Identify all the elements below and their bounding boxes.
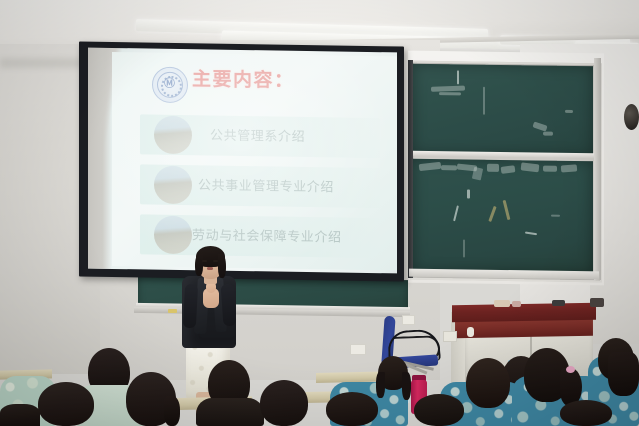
projector-glow [112, 48, 397, 273]
student-hair [402, 372, 411, 400]
podium-object [494, 300, 510, 307]
student-head [414, 394, 464, 426]
presenter-arm [183, 284, 198, 329]
student-hair [376, 372, 385, 398]
student-head [38, 382, 94, 426]
lecture-hall-photo: Ⓜ 主要内容： 公共管理系介绍 公共事业管理专业介绍 劳动与社会保障专业介绍 [0, 0, 639, 426]
student-ponytail [164, 396, 180, 426]
student-head [260, 380, 308, 426]
wall-socket [350, 344, 366, 355]
blackboard-edge-right [594, 58, 601, 280]
presenter-eye [213, 260, 218, 262]
blackboard-panel-upper [413, 64, 593, 157]
podium-object [512, 301, 521, 307]
wall-socket [443, 331, 457, 342]
presenter-hair [218, 254, 226, 278]
screen-unlit-margin [88, 48, 112, 269]
wall-clock-icon [624, 104, 639, 130]
hair-tie [566, 366, 575, 373]
presenter-eye [202, 260, 207, 262]
student-hair [608, 352, 639, 396]
chalk-piece [168, 309, 177, 313]
student-clothing [196, 398, 264, 426]
wall-socket [402, 315, 415, 325]
podium-desktop [452, 303, 596, 323]
projection-screen-surface: Ⓜ 主要内容： 公共管理系介绍 公共事业管理专业介绍 劳动与社会保障专业介绍 [88, 48, 397, 274]
podium-object [552, 300, 565, 306]
student-head [326, 392, 378, 426]
student-head [0, 404, 40, 426]
podium-handle [467, 327, 474, 337]
student-head [466, 358, 510, 408]
blackboard-edge-left [408, 60, 413, 278]
podium-object [590, 298, 604, 307]
student-head [560, 400, 612, 426]
presenter-mouth [207, 267, 213, 270]
presenter-hair [195, 254, 203, 276]
blackboard-panel-lower [413, 159, 593, 275]
